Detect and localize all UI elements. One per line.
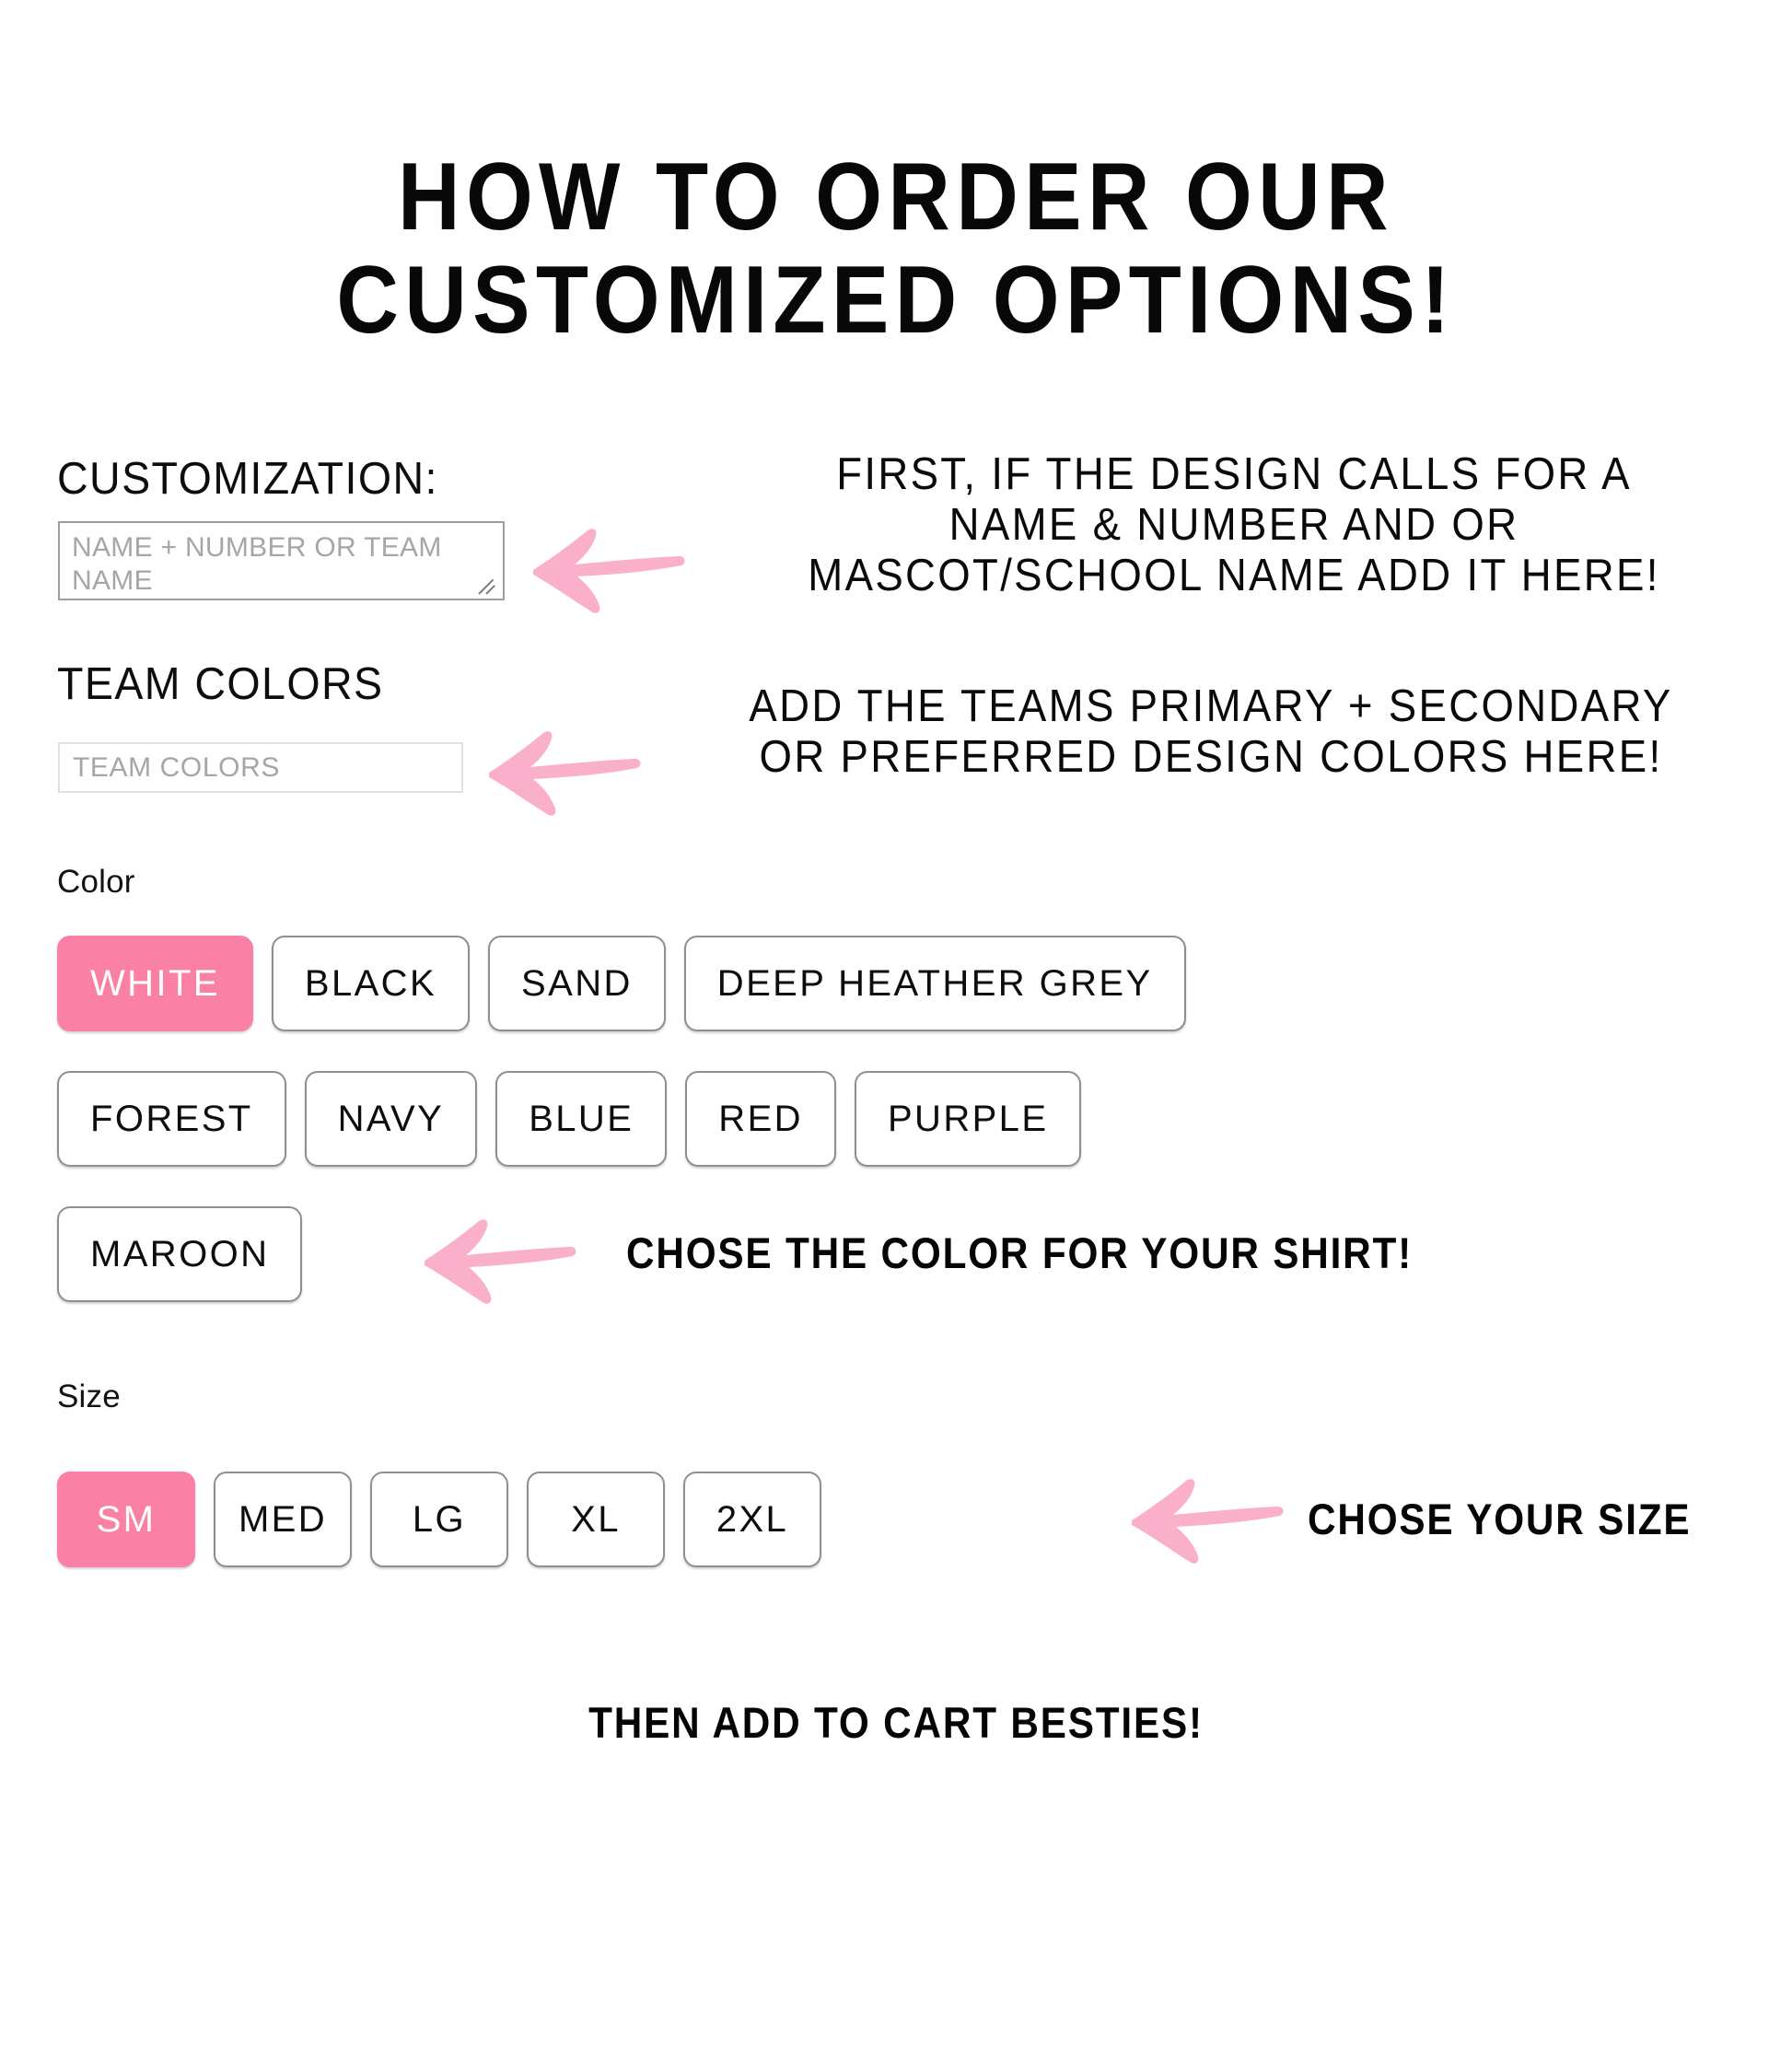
size-chip-lg[interactable]: LG	[370, 1472, 508, 1567]
arrow-left-icon	[1122, 1464, 1293, 1567]
color-chip-purple[interactable]: PURPLE	[855, 1071, 1081, 1167]
arrow-left-icon	[479, 716, 650, 820]
color-chip-sand[interactable]: SAND	[488, 936, 666, 1031]
color-chip-row-2: FOREST NAVY BLUE RED PURPLE	[57, 1071, 1081, 1167]
annotation-color: CHOSE THE COLOR FOR YOUR SHIRT!	[626, 1228, 1413, 1278]
color-chip-white[interactable]: WHITE	[57, 936, 253, 1031]
page-title: HOW TO ORDER OUR CUSTOMIZED OPTIONS!	[89, 145, 1702, 353]
customization-textarea[interactable]	[58, 521, 505, 600]
color-chip-forest[interactable]: FOREST	[57, 1071, 286, 1167]
size-chip-row: SM MED LG XL 2XL	[57, 1472, 821, 1567]
annotation-size: CHOSE YOUR SIZE	[1308, 1494, 1691, 1544]
arrow-left-icon	[523, 514, 694, 617]
annotation-customization: FIRST, IF THE DESIGN CALLS FOR A NAME & …	[738, 449, 1731, 601]
customization-label: CUSTOMIZATION:	[57, 453, 438, 505]
size-group-label: Size	[57, 1379, 121, 1415]
color-group-label: Color	[57, 864, 135, 901]
color-chip-row-1: WHITE BLACK SAND DEEP HEATHER GREY	[57, 936, 1186, 1031]
color-chip-deep-heather-grey[interactable]: DEEP HEATHER GREY	[684, 936, 1186, 1031]
color-chip-navy[interactable]: NAVY	[305, 1071, 478, 1167]
color-chip-red[interactable]: RED	[685, 1071, 836, 1167]
instruction-graphic-page: HOW TO ORDER OUR CUSTOMIZED OPTIONS! CUS…	[0, 0, 1792, 2048]
arrow-left-icon	[414, 1204, 586, 1308]
team-colors-label: TEAM COLORS	[57, 658, 384, 710]
size-chip-2xl[interactable]: 2XL	[683, 1472, 821, 1567]
color-chip-maroon[interactable]: MAROON	[57, 1206, 302, 1302]
annotation-add-to-cart: THEN ADD TO CART BESTIES!	[89, 1697, 1702, 1748]
color-chip-row-3: MAROON	[57, 1206, 302, 1302]
color-chip-black[interactable]: BLACK	[272, 936, 470, 1031]
size-chip-xl[interactable]: XL	[527, 1472, 665, 1567]
size-chip-sm[interactable]: SM	[57, 1472, 195, 1567]
color-chip-blue[interactable]: BLUE	[495, 1071, 667, 1167]
annotation-team-colors: ADD THE TEAMS PRIMARY + SECONDARY OR PRE…	[676, 681, 1747, 783]
size-chip-med[interactable]: MED	[214, 1472, 352, 1567]
team-colors-input[interactable]	[58, 742, 463, 793]
